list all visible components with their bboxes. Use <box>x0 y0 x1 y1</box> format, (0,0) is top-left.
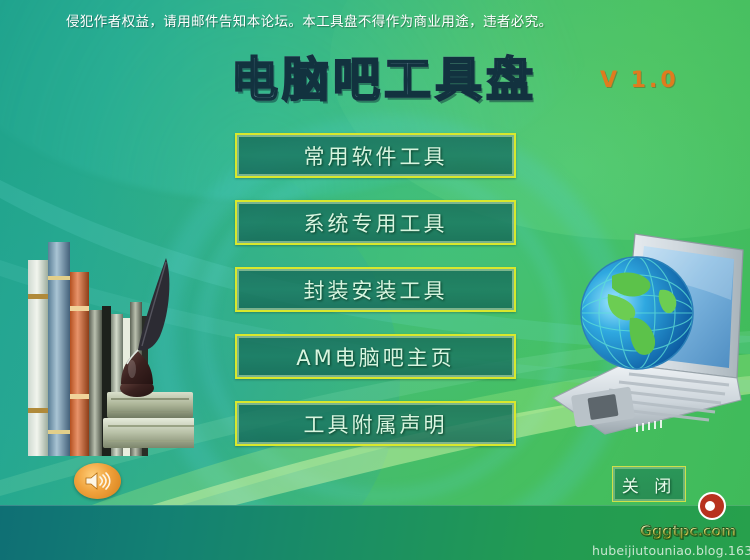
version-label: V 1.0 <box>600 68 679 93</box>
menu-system-tools[interactable]: 系统专用工具 <box>235 200 516 245</box>
globe-illustration <box>578 254 696 372</box>
menu-item-label: 常用软件工具 <box>304 141 448 171</box>
speaker-icon[interactable] <box>74 463 121 499</box>
menu-item-label: 系统专用工具 <box>304 208 448 238</box>
globe-svg <box>578 254 696 372</box>
logo-text: Gggtpc.com <box>640 522 736 540</box>
bookshelf-illustration <box>14 232 194 472</box>
menu-am-homepage[interactable]: AM电脑吧主页 <box>235 334 516 379</box>
menu-packaging-install-tools[interactable]: 封装安装工具 <box>235 267 516 312</box>
menu-item-label: 工具附属声明 <box>304 409 448 439</box>
blog-watermark: hubeijiutouniao.blog.163.com <box>592 543 750 558</box>
menu-tool-statement[interactable]: 工具附属声明 <box>235 401 516 446</box>
copyright-notice: 侵犯作者权益，请用邮件告知本论坛。本工具盘不得作为商业用途，违者必究。 <box>66 10 553 30</box>
bookshelf-svg <box>14 232 194 472</box>
main-menu: 常用软件工具 系统专用工具 封装安装工具 AM电脑吧主页 工具附属声明 <box>235 133 516 468</box>
menu-item-label: AM电脑吧主页 <box>296 342 454 372</box>
menu-common-software-tools[interactable]: 常用软件工具 <box>235 133 516 178</box>
menu-item-label: 封装安装工具 <box>304 275 448 305</box>
site-logo[interactable]: Gggtpc.com <box>640 506 745 540</box>
logo-emblem-icon <box>640 492 745 526</box>
application-window: 电脑吧工具盘 V 1.0 <box>0 0 750 560</box>
speaker-glyph <box>83 471 113 491</box>
